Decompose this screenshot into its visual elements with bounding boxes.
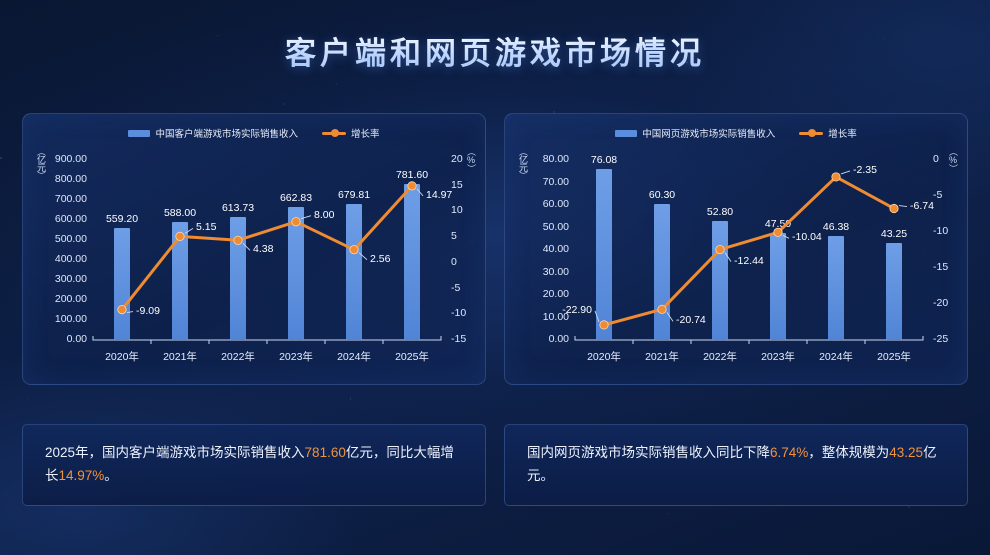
client-game-chart-card: 中国客户端游戏市场实际销售收入 增长率 （亿元） （%） 0.00100.002…	[22, 113, 486, 385]
line-data-point[interactable]	[118, 305, 126, 313]
page-title: 客户端和网页游戏市场情况	[285, 28, 705, 73]
line-data-point[interactable]	[600, 321, 608, 329]
caption-value-2: 14.97%	[59, 468, 105, 483]
caption-value-2: 43.25	[889, 445, 923, 460]
line-value-label: -2.35	[853, 164, 877, 176]
line-data-point[interactable]	[234, 236, 242, 244]
line-value-label: -9.09	[136, 305, 160, 317]
client-game-plot-area: 0.00100.00200.00300.00400.00500.00600.00…	[23, 114, 485, 384]
caption-value-1: 781.60	[305, 445, 346, 460]
line-data-point[interactable]	[408, 182, 416, 190]
caption-value-1: 6.74%	[770, 445, 808, 460]
line-data-point[interactable]	[890, 204, 898, 212]
growth-rate-line	[505, 114, 969, 386]
line-value-label: 2.56	[370, 253, 390, 265]
line-data-point[interactable]	[774, 228, 782, 236]
caption-prefix: 2025年，国内客户端游戏市场实际销售收入	[45, 445, 305, 460]
client-game-caption: 2025年，国内客户端游戏市场实际销售收入781.60亿元，同比大幅增长14.9…	[22, 424, 486, 506]
line-data-point[interactable]	[716, 245, 724, 253]
line-value-label: 5.15	[196, 221, 216, 233]
web-game-chart-card: 中国网页游戏市场实际销售收入 增长率 （亿元） （%） 0.0010.0020.…	[504, 113, 968, 385]
web-game-caption: 国内网页游戏市场实际销售收入同比下降6.74%，整体规模为43.25亿元。	[504, 424, 968, 506]
page-title-wrap: 客户端和网页游戏市场情况	[0, 28, 990, 73]
line-data-point[interactable]	[832, 173, 840, 181]
line-value-label: 14.97	[426, 189, 452, 201]
caption-prefix: 国内网页游戏市场实际销售收入同比下降	[527, 445, 770, 460]
caption-mid: ，整体规模为	[808, 445, 889, 460]
caption-row: 2025年，国内客户端游戏市场实际销售收入781.60亿元，同比大幅增长14.9…	[22, 424, 968, 506]
caption-suffix: 。	[104, 468, 118, 483]
line-data-point[interactable]	[292, 218, 300, 226]
line-value-label: -10.04	[792, 231, 822, 243]
line-value-label: -6.74	[910, 200, 934, 212]
line-value-label: 4.38	[253, 243, 273, 255]
line-value-label: -20.74	[676, 314, 706, 326]
web-game-plot-area: 0.0010.0020.0030.0040.0050.0060.0070.008…	[505, 114, 967, 384]
line-data-point[interactable]	[658, 305, 666, 313]
line-value-label: -22.90	[548, 304, 592, 316]
line-value-label: -12.44	[734, 255, 764, 267]
line-data-point[interactable]	[176, 232, 184, 240]
line-value-label: 8.00	[314, 209, 334, 221]
chart-panels: 中国客户端游戏市场实际销售收入 增长率 （亿元） （%） 0.00100.002…	[22, 113, 968, 385]
line-data-point[interactable]	[350, 245, 358, 253]
